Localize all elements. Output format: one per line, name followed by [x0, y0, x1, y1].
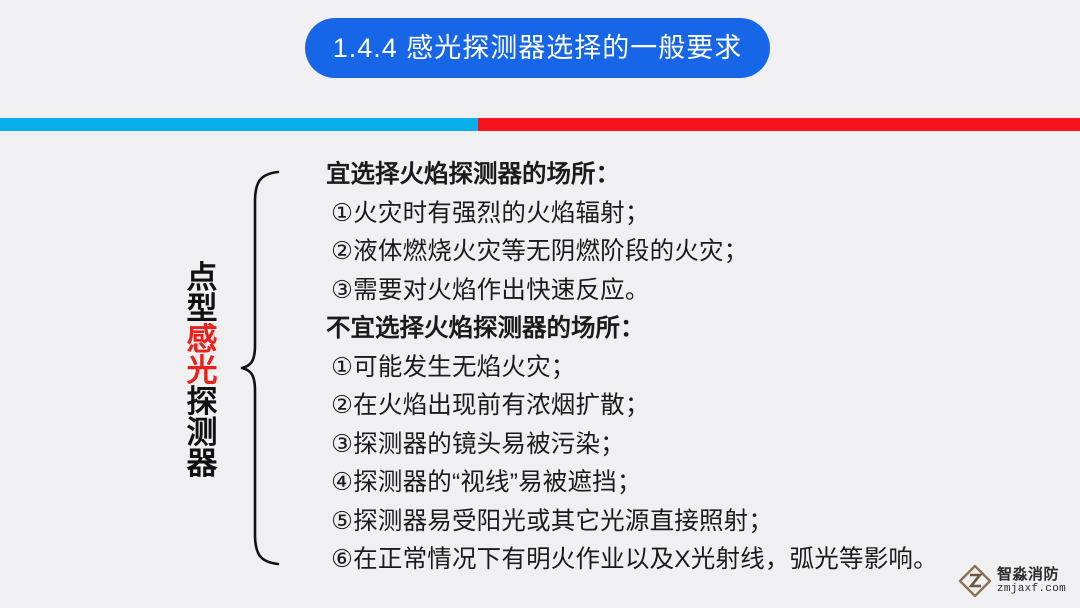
watermark-text-block: 智淼消防 zmjaxf.com [997, 567, 1066, 595]
watermark-brand-name: 智淼消防 [997, 567, 1066, 582]
divider-bar-right-red [478, 118, 1080, 131]
vertical-label-char-highlight: 光 [178, 355, 226, 386]
content-list-item: ②液体燃烧火灾等无阴燃阶段的火灾； [326, 233, 976, 272]
divider-bar-left-cyan [0, 118, 478, 131]
content-list-item: ③需要对火焰作出快速反应。 [326, 272, 976, 311]
vertical-label-char: 探 [178, 386, 226, 417]
watermark: 智淼消防 zmjaxf.com [958, 564, 1066, 598]
content-heading: 宜选择火焰探测器的场所： [326, 156, 976, 195]
curly-brace-icon [238, 168, 284, 568]
slide-title-pill: 1.4.4 感光探测器选择的一般要求 [305, 18, 770, 78]
content-list-item: ①可能发生无焰火灾； [326, 349, 976, 388]
slide-canvas: 1.4.4 感光探测器选择的一般要求 点 型 感 光 探 测 器 宜选择火焰探测… [0, 0, 1080, 608]
content-text-block: 宜选择火焰探测器的场所： ①火灾时有强烈的火焰辐射； ②液体燃烧火灾等无阴燃阶段… [326, 156, 976, 580]
vertical-label-char: 测 [178, 417, 226, 448]
watermark-url: zmjaxf.com [997, 584, 1066, 595]
slide-title-text: 1.4.4 感光探测器选择的一般要求 [333, 35, 743, 62]
content-heading: 不宜选择火焰探测器的场所： [326, 310, 976, 349]
vertical-label-char: 型 [178, 293, 226, 324]
divider-bar [0, 118, 1080, 131]
diamond-z-logo-icon [958, 564, 992, 598]
vertical-label-char: 器 [178, 448, 226, 479]
vertical-label-char: 点 [178, 262, 226, 293]
content-list-item: ④探测器的“视线”易被遮挡； [326, 464, 976, 503]
content-list-item: ⑥在正常情况下有明火作业以及X光射线，弧光等影响。 [326, 541, 976, 580]
content-list-item: ⑤探测器易受阳光或其它光源直接照射； [326, 503, 976, 542]
content-list-item: ②在火焰出现前有浓烟扩散； [326, 387, 976, 426]
content-list-item: ①火灾时有强烈的火焰辐射； [326, 195, 976, 234]
vertical-label-char-highlight: 感 [178, 324, 226, 355]
vertical-category-label: 点 型 感 光 探 测 器 [178, 262, 226, 479]
content-list-item: ③探测器的镜头易被污染； [326, 426, 976, 465]
